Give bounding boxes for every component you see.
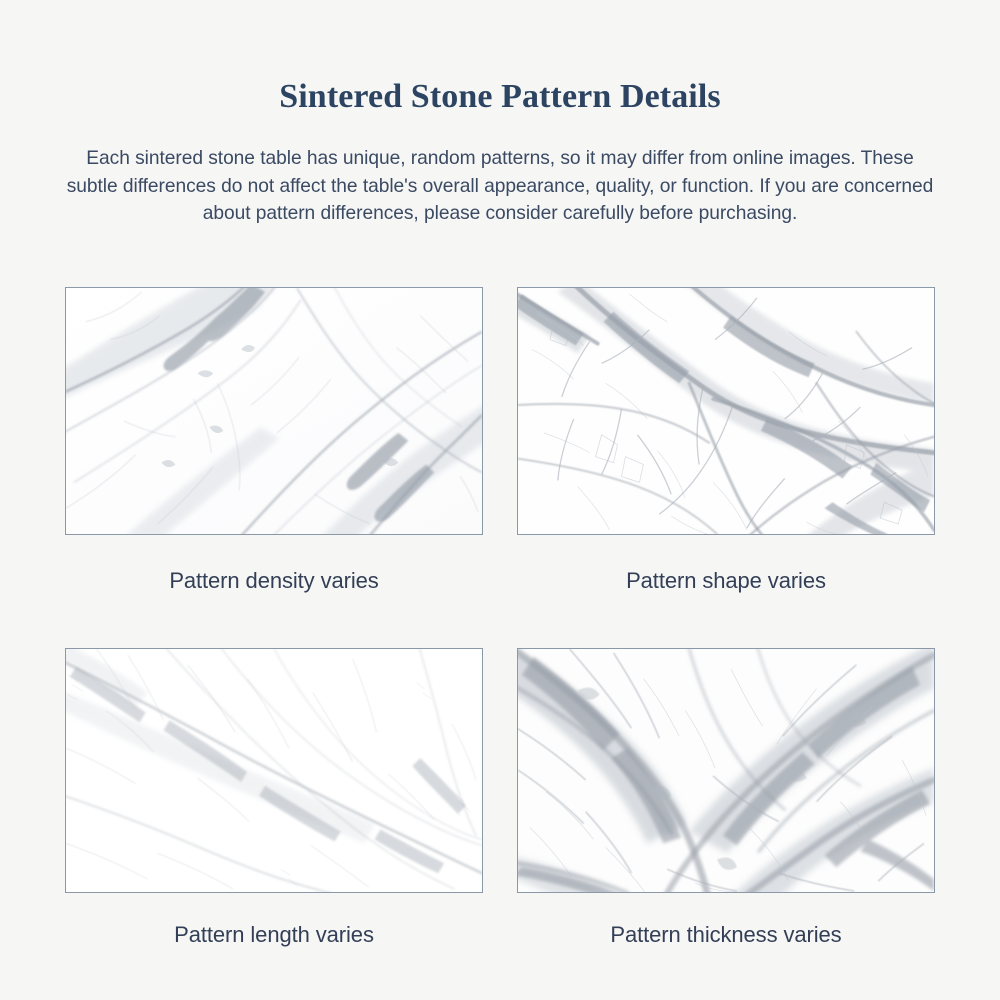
pattern-tile-shape: Pattern shape varies: [517, 287, 935, 535]
tile-frame-thickness: [517, 648, 935, 893]
pattern-details-page: Sintered Stone Pattern Details Each sint…: [0, 0, 1000, 1000]
pattern-tile-density: Pattern density varies: [65, 287, 483, 535]
marble-swatch-shape: [518, 288, 934, 534]
tile-frame-length: [65, 648, 483, 893]
tile-caption-shape: Pattern shape varies: [517, 568, 935, 594]
pattern-tile-length: Pattern length varies: [65, 648, 483, 893]
intro-paragraph: Each sintered stone table has unique, ra…: [60, 145, 940, 228]
tile-frame-density: [65, 287, 483, 535]
page-title: Sintered Stone Pattern Details: [0, 75, 1000, 119]
marble-swatch-thickness: [518, 649, 934, 892]
pattern-tile-thickness: Pattern thickness varies: [517, 648, 935, 893]
marble-swatch-density: [66, 288, 482, 534]
tile-caption-density: Pattern density varies: [65, 568, 483, 594]
tile-caption-thickness: Pattern thickness varies: [517, 922, 935, 948]
marble-swatch-length: [66, 649, 482, 892]
tile-frame-shape: [517, 287, 935, 535]
tile-caption-length: Pattern length varies: [65, 922, 483, 948]
